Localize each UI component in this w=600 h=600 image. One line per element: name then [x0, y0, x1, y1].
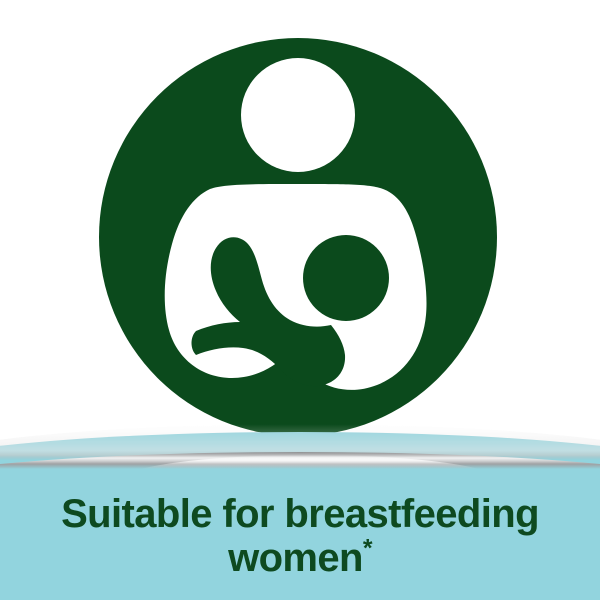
caption-line-2-text: women [228, 536, 363, 580]
promo-badge-card: Suitable for breastfeeding women* [0, 0, 600, 600]
caption-line-1: Suitable for breastfeeding [0, 492, 600, 536]
footnote-marker: * [363, 536, 372, 563]
caption-block: Suitable for breastfeeding women* [0, 492, 600, 580]
caption-line-2: women* [0, 536, 600, 580]
